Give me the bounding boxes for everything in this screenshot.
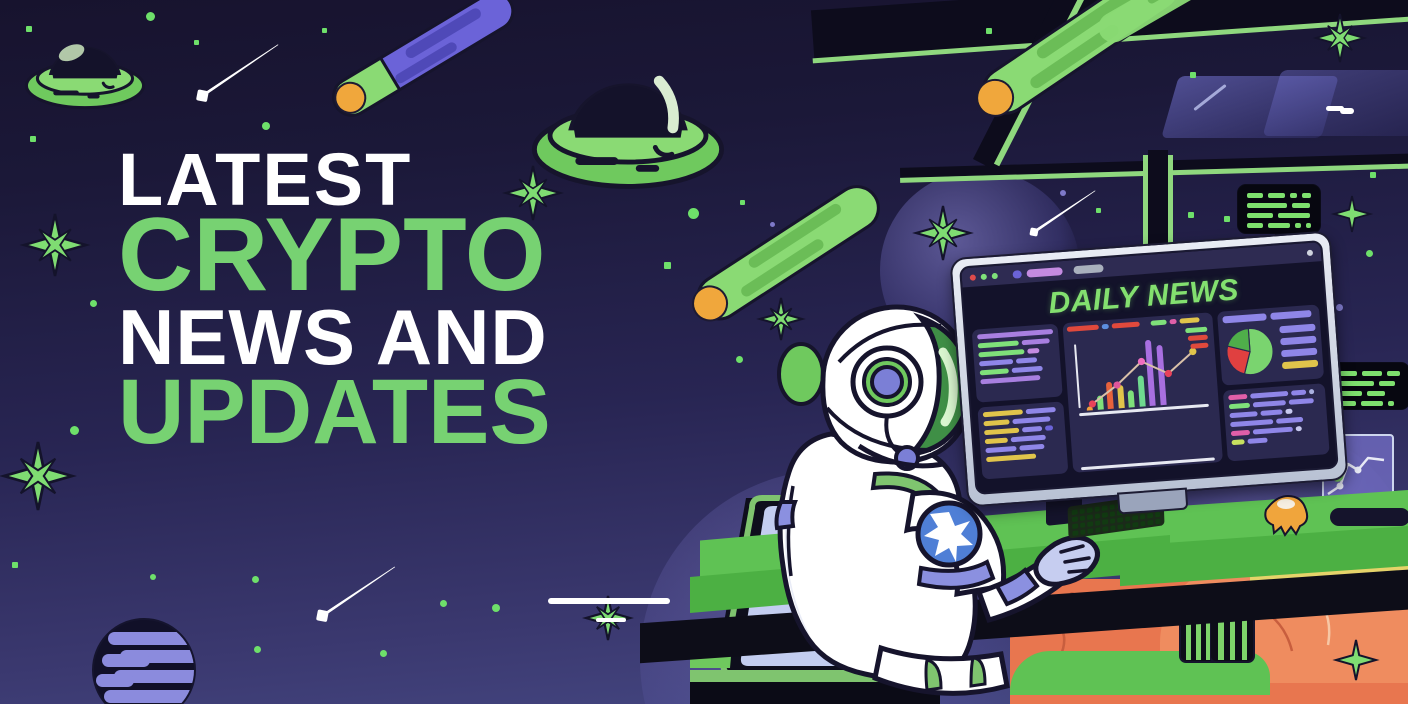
chart-baseline (1081, 457, 1215, 470)
star-dot-purple (770, 222, 775, 227)
star-dot (664, 262, 671, 269)
tag (1111, 322, 1140, 329)
list-item (1309, 389, 1315, 394)
star-dot (146, 12, 155, 21)
list-item (1260, 409, 1282, 416)
terminal-panel-upper-right (1237, 184, 1321, 234)
tag (1169, 319, 1176, 325)
browser-pill-blue[interactable] (1012, 270, 1022, 279)
list-item (1025, 406, 1056, 413)
star-dot-purple (1060, 190, 1066, 196)
legend-row (1282, 360, 1318, 370)
panel-pie[interactable] (1217, 304, 1324, 385)
list-item (1010, 434, 1045, 442)
list-item (983, 409, 1023, 417)
list-item (1045, 425, 1053, 431)
sparkle-left-upper (24, 214, 86, 276)
horizontal-streak-large (548, 598, 670, 604)
star-dot (1224, 216, 1230, 222)
list-item (1248, 438, 1268, 444)
browser-dot-red[interactable] (970, 274, 976, 280)
star-dot (194, 40, 199, 45)
cockpit-glass-pane-right (1263, 70, 1408, 136)
star-dot (1370, 172, 1376, 178)
list-item (985, 445, 1016, 452)
star-dot (30, 136, 36, 142)
list-item (979, 359, 1013, 366)
star-dot (740, 200, 745, 205)
headline: LATEST CRYPTO NEWS AND UPDATES (118, 146, 551, 454)
list-item (1019, 443, 1045, 450)
list-item (1230, 411, 1258, 418)
tag (1186, 327, 1208, 334)
ufo-top-left (24, 22, 146, 120)
star-dot (254, 646, 261, 653)
list-item (980, 375, 1040, 384)
legend-row (1280, 324, 1316, 334)
list-item (985, 437, 1008, 444)
list-item (1022, 338, 1050, 345)
list-item (978, 349, 1024, 357)
browser-dot-right[interactable] (1307, 249, 1313, 255)
list-item (1229, 394, 1248, 400)
pie-chart (1224, 325, 1278, 379)
star-dot (252, 576, 259, 583)
tag (1179, 317, 1199, 323)
panel-chart-center[interactable] (1063, 312, 1224, 473)
panel-left-top[interactable] (972, 324, 1063, 403)
monitor-screen: DAILY NEWS (959, 240, 1339, 495)
banner-illustration: LATEST CRYPTO NEWS AND UPDATES (0, 0, 1408, 704)
planet-striped-bottom-left (92, 618, 196, 704)
plot-area (1068, 324, 1216, 422)
list-item (1252, 400, 1285, 407)
star-dot (1188, 212, 1194, 218)
star-dot (262, 122, 270, 130)
star-dot (12, 562, 18, 568)
list-item (1291, 390, 1306, 396)
star-dot (380, 650, 387, 657)
helmet-comm-disc-core (872, 367, 902, 397)
monitor: DAILY NEWS (949, 230, 1348, 507)
horizontal-streak-tiny (1326, 106, 1344, 111)
star-dot (440, 600, 447, 607)
orange-coral-prop (1258, 490, 1314, 543)
star-dot (70, 426, 79, 435)
list-item (1231, 430, 1250, 436)
list-item (1015, 357, 1037, 364)
browser-address-bar[interactable] (1026, 267, 1062, 278)
list-item (986, 453, 1037, 462)
list-item (1027, 348, 1040, 354)
list-item (1271, 310, 1312, 320)
list-item (984, 427, 1019, 435)
list-item (983, 419, 1009, 426)
back-band-purple (777, 502, 796, 528)
sparkle-right-top (1316, 14, 1364, 62)
list-item (1022, 426, 1042, 432)
sparkle-headline (506, 166, 560, 220)
sparkle-right-upper (1334, 196, 1370, 232)
star-dot (1096, 208, 1101, 213)
star-dot (90, 300, 97, 307)
star-dot (1366, 250, 1373, 257)
tag (1101, 324, 1108, 330)
list-item (1232, 439, 1245, 445)
legend-row (1281, 348, 1317, 358)
tag (1067, 325, 1099, 332)
star-dot-purple (1336, 304, 1343, 311)
browser-pill-grey[interactable] (1073, 264, 1104, 274)
browser-dot-green-2[interactable] (992, 272, 998, 278)
star-dot (986, 28, 992, 34)
list-item (1285, 409, 1293, 415)
tag (1151, 320, 1167, 326)
horizontal-streak-small (596, 618, 626, 622)
star-dot (688, 208, 699, 219)
sparkle-right-bottom (1336, 640, 1376, 680)
legend-row (1281, 336, 1317, 346)
headline-line-4: UPDATES (118, 370, 551, 455)
list-item (1296, 426, 1303, 431)
dashboard-right-column (1217, 304, 1329, 461)
star-dot (322, 28, 327, 33)
helmet-rear-pad (779, 344, 823, 404)
list-item (1012, 366, 1043, 373)
list-item (1276, 417, 1304, 424)
panel-right-bottom[interactable] (1223, 383, 1329, 461)
list-item (1229, 403, 1249, 409)
list-item (1288, 398, 1314, 405)
dashboard-left-column (972, 324, 1069, 480)
desk-slot (1330, 508, 1408, 526)
sparkle-left-lower (4, 442, 72, 510)
tag (1188, 335, 1208, 341)
list-item (1231, 419, 1273, 427)
list-item (1252, 427, 1293, 435)
star-dot (492, 604, 500, 612)
list-item (1012, 416, 1050, 424)
star-dot (1190, 72, 1196, 78)
list-item (1250, 391, 1289, 399)
list-item (980, 368, 1009, 375)
headline-line-2: CRYPTO (118, 208, 551, 304)
list-item (978, 340, 1019, 348)
dashboard-body (965, 299, 1336, 486)
list-item (1223, 313, 1267, 323)
sparkle-astro (916, 206, 970, 260)
star-dot (150, 574, 156, 580)
panel-left-bottom[interactable] (977, 401, 1068, 480)
browser-dot-green-1[interactable] (981, 273, 987, 279)
